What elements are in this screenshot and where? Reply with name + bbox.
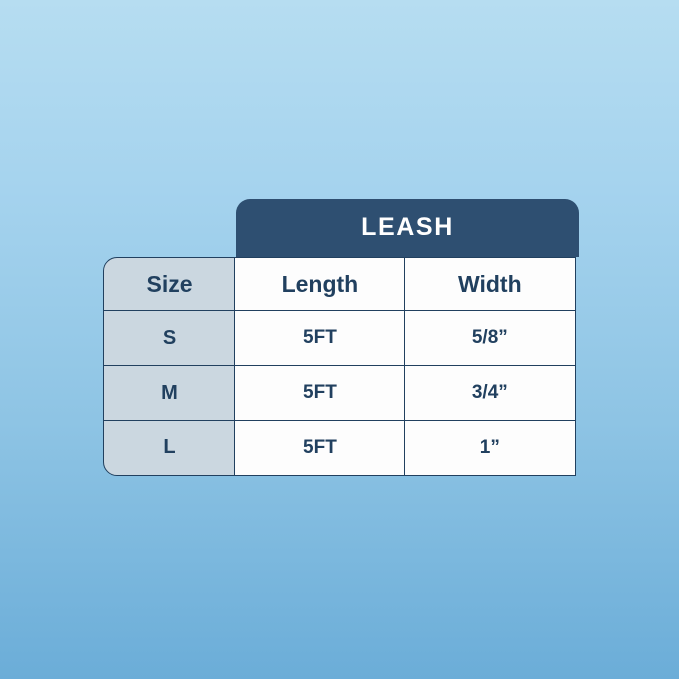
cell-size-m: M (103, 365, 236, 421)
chart-grid: Size Length Width S 5FT 5/8” M 5FT 3/4” … (103, 257, 579, 476)
table-row: M 5FT 3/4” (103, 367, 579, 422)
table-row: S 5FT 5/8” (103, 312, 579, 367)
cell-size-s: S (103, 310, 236, 366)
cell-length-l: 5FT (234, 420, 405, 476)
cell-size-l: L (103, 420, 236, 476)
chart-title: LEASH (361, 215, 454, 242)
cell-length-m: 5FT (234, 365, 405, 421)
cell-length-s: 5FT (234, 310, 405, 366)
size-chart-page: LEASH Size Length Width S 5FT 5/8” M 5FT… (0, 0, 679, 679)
column-header-width: Width (404, 257, 576, 312)
cell-width-l: 1” (404, 420, 576, 476)
column-header-size: Size (103, 257, 236, 312)
table-row: L 5FT 1” (103, 421, 579, 476)
cell-width-m: 3/4” (404, 365, 576, 421)
cell-width-s: 5/8” (404, 310, 576, 366)
table-header-row: Size Length Width (103, 257, 579, 312)
chart-title-bar: LEASH (236, 199, 579, 257)
column-header-length: Length (234, 257, 405, 312)
leash-size-chart: LEASH Size Length Width S 5FT 5/8” M 5FT… (103, 199, 579, 476)
